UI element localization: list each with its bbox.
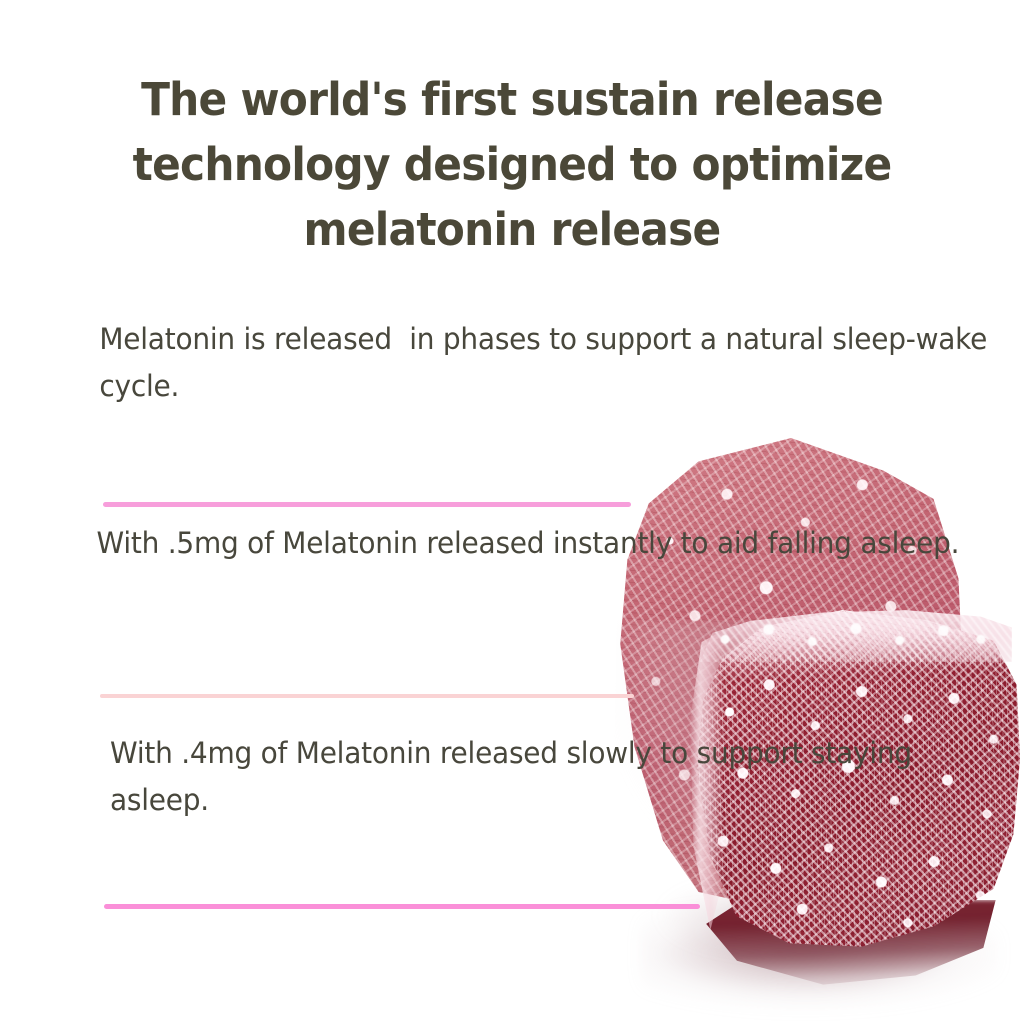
phase-divider-3 [104, 904, 700, 909]
release-phase-item: Melatonin is released in phases to suppo… [0, 316, 1024, 504]
release-phase-description: With .5mg of Melatonin released instantl… [0, 520, 988, 567]
release-phase-item: With .4mg of Melatonin released slowly t… [0, 708, 1024, 918]
release-phase-description: With .4mg of Melatonin released slowly t… [0, 730, 988, 824]
phase-divider-2 [100, 694, 634, 698]
melatonin-sustain-release-infographic: The world's first sustain release techno… [0, 0, 1024, 1024]
gummy-ground-shadow [640, 905, 1000, 1020]
release-phase-item: With .5mg of Melatonin released instantl… [0, 504, 1024, 708]
release-phase-list: Melatonin is released in phases to suppo… [0, 316, 1024, 918]
release-phase-description: Melatonin is released in phases to suppo… [0, 316, 988, 410]
page-title: The world's first sustain release techno… [115, 68, 908, 262]
